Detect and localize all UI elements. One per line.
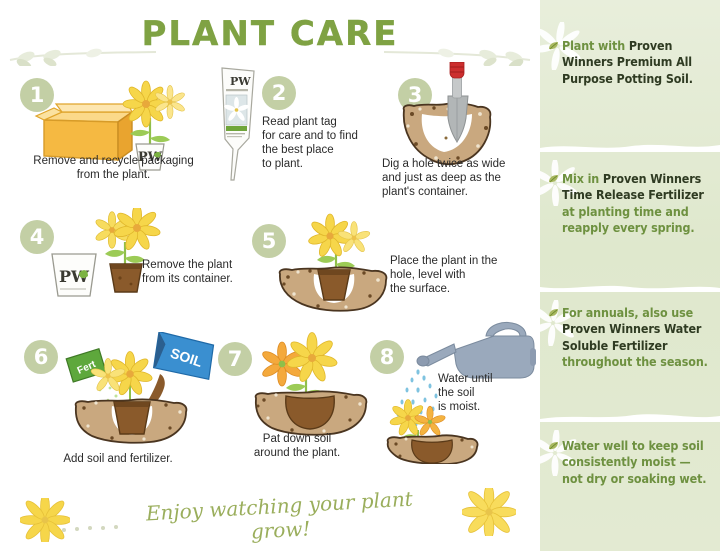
step-badge-2: 2: [262, 76, 296, 110]
tip-1-lead: Plant with: [562, 38, 629, 53]
step-badge-6: 6: [24, 340, 58, 374]
leaf-bullet-icon-4: [548, 441, 559, 452]
leaf-bullet-icon-3: [548, 308, 559, 319]
sidebar-tip-4: Water well to keep soil consistently moi…: [562, 438, 714, 487]
sidebar-tip-1: Plant with Proven Winners Premium All Pu…: [562, 38, 714, 87]
tip-4-text: Water well to keep soil consistently moi…: [562, 438, 706, 486]
tip-divider-2: [540, 282, 720, 292]
footer-band: Enjoy watching your plant grow!: [0, 486, 540, 546]
leaf-bullet-icon-2: [548, 174, 559, 185]
soil-and-fertilizer-icon: Fert: [56, 332, 226, 452]
step-7: 7: [212, 334, 392, 469]
trowel-and-hole-icon: [386, 62, 516, 172]
footer-message: Enjoy watching your plant grow!: [119, 485, 441, 551]
dotted-leader: [62, 526, 124, 530]
tag-pw-logo: PW: [230, 75, 251, 88]
step-caption-4: Remove the plant from its container.: [142, 258, 252, 286]
step-caption-1: Remove and recycle packaging from the pl…: [6, 154, 221, 182]
step-3: 3 Dig a hole twice as wide and jus: [382, 62, 542, 197]
tip-2-lead: Mix in: [562, 171, 603, 186]
tip-divider-1: [540, 142, 720, 152]
title-band: PLANT CARE: [0, 8, 540, 60]
tip-3-tail: throughout the season.: [562, 354, 708, 369]
sidebar-tip-2: Mix in Proven Winners Time Release Ferti…: [562, 171, 714, 237]
step-4: 4 PW: [14, 210, 244, 310]
step-caption-6: Add soil and fertilizer.: [28, 452, 208, 466]
flower-decoration-right: [462, 488, 516, 536]
sidebar-tip-3: For annuals, also use Proven Winners Wat…: [562, 305, 714, 371]
tips-sidebar: Plant with Proven Winners Premium All Pu…: [540, 0, 720, 551]
steps-panel: PLANT CARE 1: [0, 0, 540, 551]
patted-soil-plant-icon: [242, 332, 372, 447]
tip-divider-3: [540, 412, 720, 422]
page-title: PLANT CARE: [0, 14, 540, 54]
step-caption-5: Place the plant in the hole, level with …: [390, 254, 520, 296]
step-caption-3: Dig a hole twice as wide and just as dee…: [382, 157, 534, 199]
leaf-bullet-icon-1: [548, 41, 559, 52]
step-2: 2 PW Read plant tag for care and: [200, 62, 360, 192]
tip-2-tail: at planting time and reapply every sprin…: [562, 204, 695, 235]
step-caption-8: Water until the soil is moist.: [438, 372, 528, 414]
step-1: 1: [14, 70, 214, 185]
plant-tag-icon: PW: [208, 62, 264, 182]
tip-3-product: Proven Winners Water Soluble Fertilizer: [562, 321, 701, 352]
step-caption-2: Read plant tag for care and to find the …: [262, 115, 362, 171]
step-5: 5: [244, 212, 534, 317]
tip-3-lead: For annuals, also use: [562, 305, 693, 320]
plant-care-infographic: PLANT CARE 1: [0, 0, 720, 551]
step-8: 8: [366, 326, 541, 466]
step-caption-7: Pat down soil around the plant.: [222, 432, 372, 460]
flower-decoration-left: [20, 498, 70, 542]
step-6: 6 Fert: [14, 334, 234, 474]
plant-in-hole-icon: [274, 212, 399, 312]
